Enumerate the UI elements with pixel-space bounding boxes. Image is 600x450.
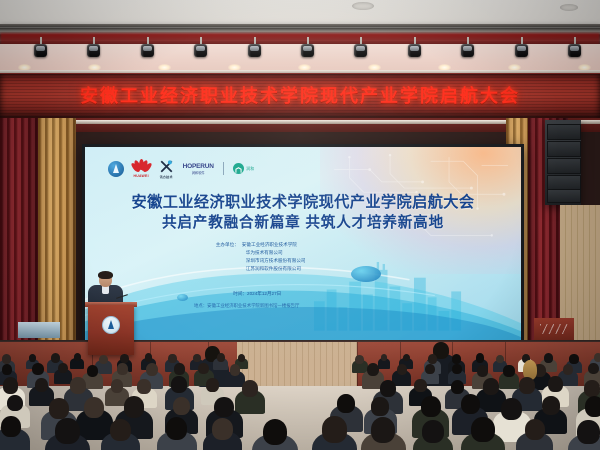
audience-member-head xyxy=(422,420,444,443)
audience-member-head xyxy=(483,378,499,395)
logo-divider xyxy=(223,162,224,175)
audience-member-head xyxy=(146,363,158,376)
spotlight-icon xyxy=(301,44,314,59)
audience-member-head xyxy=(49,398,69,419)
audience-member-head xyxy=(217,353,225,362)
hoperun-logo-icon: HOPERUN 润和软件 xyxy=(183,163,214,175)
organizer-item: 深圳市讯方技术股份有限公司 xyxy=(216,257,306,265)
ceiling-vent xyxy=(560,4,578,11)
auditorium-photo: 安徽工业经济职业技术学院现代产业学院启航大会 xyxy=(0,0,600,450)
audience-member-head xyxy=(355,355,364,364)
spotlight-icon xyxy=(568,44,581,59)
audience-member-head xyxy=(32,363,44,376)
spotlight-icon xyxy=(194,44,207,59)
huawei-logo-icon: HUAWEI xyxy=(133,159,150,178)
organizer-item: 安徽工业经济职业技术学院 xyxy=(242,242,297,247)
spotlight-icon xyxy=(87,44,100,59)
audience-member-head xyxy=(371,417,395,443)
hoperun-logo-label: HOPERUN xyxy=(183,163,214,170)
time-value: 2024年12月27日 xyxy=(247,291,281,296)
audience-member-head xyxy=(452,364,462,374)
screen-surface: HUAWEI 讯方技术 HOPERUN 润和软件 xyxy=(85,147,521,345)
audience-member-head xyxy=(3,377,19,394)
audience-member-head xyxy=(117,363,128,375)
audience-member-head xyxy=(594,353,600,362)
blue-dot-accent xyxy=(177,294,188,301)
spotlight-icon xyxy=(461,44,474,59)
audience-member-head xyxy=(124,396,144,418)
screen-title-line1: 安徽工业经济职业技术学院现代产业学院启航大会 xyxy=(85,192,521,214)
spotlight-icon xyxy=(248,44,261,59)
audience-member-head xyxy=(110,419,131,442)
stage-right-equipment-stripes xyxy=(540,324,568,334)
audience-member-head xyxy=(2,354,11,364)
audience-member-head xyxy=(166,417,188,440)
audience-member-head xyxy=(542,396,560,415)
audience-member-head xyxy=(74,353,81,361)
audience-member-head xyxy=(171,376,187,393)
audience-member-head xyxy=(397,364,407,375)
blue-ellipse-accent xyxy=(351,266,381,282)
audience-member-head xyxy=(461,394,480,415)
led-screen: HUAWEI 讯方技术 HOPERUN 润和软件 xyxy=(82,144,524,348)
audience-member-head xyxy=(206,378,219,392)
audience-member-head xyxy=(58,363,68,373)
audience-member-head xyxy=(51,353,60,363)
audience-member-head xyxy=(322,416,347,442)
huawei-logo-label: HUAWEI xyxy=(133,174,148,178)
xunfang-logo-icon: 讯方技术 xyxy=(159,159,174,179)
audience-member-head xyxy=(1,416,21,437)
audience-member-head xyxy=(496,355,504,363)
wall-rail-top xyxy=(0,70,600,73)
spotlight-icon xyxy=(141,44,154,59)
audience-member-head xyxy=(111,379,124,392)
audience-member-head xyxy=(525,419,545,440)
audience-member-head xyxy=(238,354,245,362)
audience-member-head xyxy=(242,380,258,397)
audience-member-head xyxy=(584,380,600,397)
audience-member-head xyxy=(519,377,535,394)
audience-member-head xyxy=(198,363,209,375)
time-label: 时间： xyxy=(233,291,247,296)
audience-member-head xyxy=(137,379,150,393)
audience-member-head xyxy=(70,377,86,394)
audience-member-head xyxy=(428,354,437,364)
podium-school-emblem-icon xyxy=(102,316,120,334)
audience-member-head xyxy=(35,378,48,392)
audience-member-head xyxy=(99,355,108,365)
audience-member-head xyxy=(563,364,574,375)
screen-title: 安徽工业经济职业技术学院现代产业学院启航大会 共启产教融合新篇章 共筑人才培养新… xyxy=(85,192,521,234)
led-banner-text: 安徽工业经济职业技术学院现代产业学院启航大会 xyxy=(0,82,600,108)
audience-member-head xyxy=(120,354,129,363)
organizer-item: 华为技术有限公司 xyxy=(216,249,306,257)
spotlight-icon xyxy=(515,44,528,59)
anhui-vocational-college-logo-icon xyxy=(108,161,124,177)
sponsor-logo-row: HUAWEI 讯方技术 HOPERUN 润和软件 xyxy=(108,159,255,179)
audience-member-head xyxy=(503,365,514,377)
presenter-hair xyxy=(98,271,113,279)
audience-member-head xyxy=(230,364,241,375)
audience-member-head xyxy=(193,354,201,362)
organizers-label: 主办单位： xyxy=(216,242,239,247)
audience-member-head xyxy=(168,354,176,363)
spotlight-icon xyxy=(34,44,47,59)
ceiling-vent xyxy=(352,2,374,10)
audience-member-head xyxy=(544,353,553,363)
line-array-speaker xyxy=(545,120,581,205)
audience-member-head xyxy=(585,396,600,417)
xunfang-logo-label: 讯方技术 xyxy=(160,175,173,179)
audience-member-head xyxy=(337,394,355,413)
audience-member-head xyxy=(569,354,578,364)
audience-member-head xyxy=(173,397,191,416)
audience-member-head xyxy=(145,353,153,361)
audience-member-head xyxy=(577,420,599,444)
audience-member-head xyxy=(414,379,427,392)
audience-member-head xyxy=(425,364,435,374)
audience-member-head xyxy=(87,365,98,377)
organizer-item: 江苏润和软件股份有限公司 xyxy=(216,265,306,273)
audience-member-head xyxy=(477,365,488,377)
audience-member-head xyxy=(371,397,389,416)
audience-member-head xyxy=(2,364,12,375)
spotlight-icon xyxy=(408,44,421,59)
audience-member-head xyxy=(7,395,23,412)
audience-member-head xyxy=(214,397,234,418)
audience-member-head xyxy=(84,397,104,419)
audience-member-head xyxy=(55,418,80,444)
stage-left-equipment xyxy=(18,322,60,338)
spotlight-icon xyxy=(354,44,367,59)
audience xyxy=(0,352,600,450)
audience-member-head xyxy=(476,353,485,362)
runhe-logo-label: 润和 xyxy=(246,166,254,172)
screen-organizers: 主办单位：安徽工业经济职业技术学院 华为技术有限公司 深圳市讯方技术股份有限公司… xyxy=(216,241,306,273)
audience-member-head xyxy=(29,354,36,362)
audience-member-head xyxy=(452,354,461,364)
audience-member-head xyxy=(501,398,522,420)
audience-member-head xyxy=(471,417,495,442)
runhe-logo-icon: 润和 xyxy=(233,163,255,174)
audience-member-head xyxy=(451,380,465,394)
audience-member-head xyxy=(367,363,379,376)
audience-member-head xyxy=(548,376,563,392)
audience-member-head xyxy=(263,419,288,445)
audience-member-head xyxy=(380,380,396,397)
audience-member-head xyxy=(421,396,441,417)
screen-time: 时间：2024年12月27日 xyxy=(233,291,281,297)
screen-place: 地点：安徽工业经济职业技术学院新图书馆一楼报告厅 xyxy=(194,303,299,309)
audience-member-head xyxy=(212,418,233,440)
screen-title-line2: 共启产教融合新篇章 共筑人才培养新高地 xyxy=(85,213,521,234)
audience-member-head xyxy=(403,354,410,362)
audience-member-head xyxy=(174,363,185,375)
